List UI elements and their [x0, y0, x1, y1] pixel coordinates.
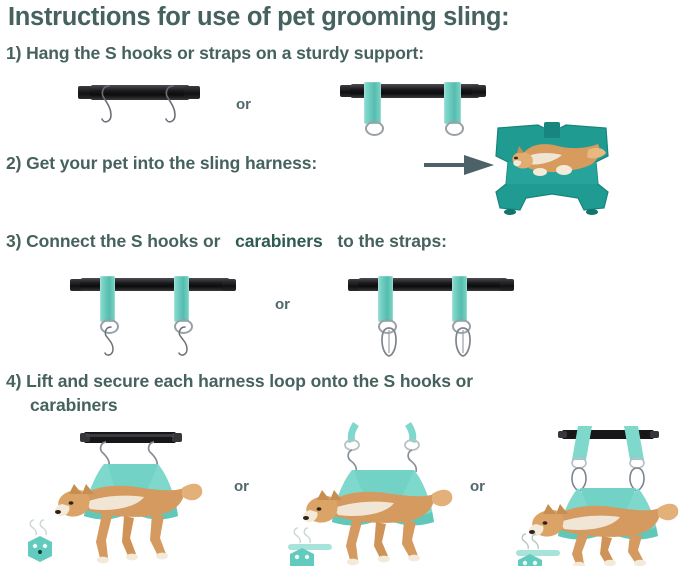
hanging-strap: [174, 276, 189, 322]
figure-step2-sling-with-dog: [492, 122, 612, 217]
figure-step4-a: [24, 424, 224, 566]
s-hooks-accessory: [30, 520, 36, 535]
step-3-text: 3) Connect the S hooks or carabiners to …: [6, 230, 447, 252]
figure-step4-b: [268, 424, 458, 566]
bar-end-right: [500, 279, 514, 291]
hanging-strap: [452, 276, 467, 322]
carabiner-icon: [454, 326, 472, 358]
step-4-text-line2: carabiners: [30, 394, 118, 416]
page-title: Instructions for use of pet grooming sli…: [8, 2, 676, 32]
step-1-text: 1) Hang the S hooks or straps on a sturd…: [6, 42, 424, 64]
figure-step1-right: [340, 78, 500, 140]
s-hook-icon: [101, 326, 123, 360]
step-2-text: 2) Get your pet into the sling harness:: [6, 152, 317, 174]
s-hook-icon: [175, 326, 197, 360]
s-hook-icon: [96, 84, 122, 132]
d-ring-icon: [445, 121, 464, 136]
or-label-step1: or: [236, 96, 251, 113]
nail-file-accessory: [288, 544, 332, 550]
or-label-step4-1: or: [234, 478, 249, 495]
bar-end-right: [222, 279, 236, 291]
or-label-step3: or: [275, 296, 290, 313]
step-3-text-before: 3) Connect the S hooks or: [6, 231, 220, 251]
step-3-text-after: to the straps:: [337, 231, 446, 251]
or-label-step4-2: or: [470, 478, 485, 495]
figure-step3-right: [348, 272, 528, 362]
d-ring-icon: [365, 121, 384, 136]
figure-step4-c: [506, 424, 679, 566]
hanging-strap: [378, 276, 393, 322]
figure-step1-left: [78, 78, 208, 133]
step-4-text-line1: 4) Lift and secure each harness loop ont…: [6, 370, 473, 392]
step-3-carabiners-word: carabiners: [235, 231, 323, 251]
s-hook-icon: [160, 84, 186, 132]
hanging-strap: [100, 276, 115, 322]
carabiner-icon: [380, 326, 398, 358]
bar-end-right: [472, 85, 486, 97]
hanging-strap: [444, 82, 461, 124]
figure-step3-left: [70, 272, 250, 362]
arrow-right-icon: [424, 152, 496, 178]
instruction-sheet: Instructions for use of pet grooming sli…: [0, 0, 679, 566]
hanging-strap: [364, 82, 381, 124]
bar-end-right: [184, 86, 200, 99]
